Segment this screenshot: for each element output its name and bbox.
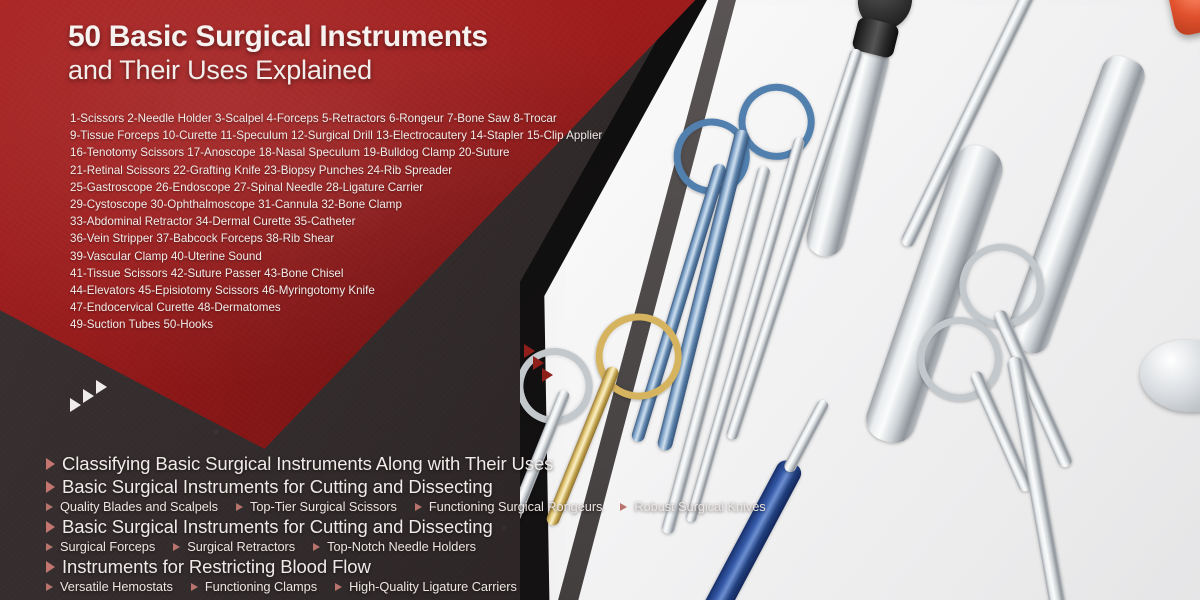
outline-item-functioning-clamps[interactable]: Functioning Clamps	[191, 579, 317, 594]
outline-item-top-tier-scissors[interactable]: Top-Tier Surgical Scissors	[236, 499, 397, 514]
outline-item-robust-knives[interactable]: Robust Surgical Knives	[620, 499, 765, 514]
chevron-triangle-icon	[83, 389, 94, 403]
outline-item-surgical-forceps[interactable]: Surgical Forceps	[46, 539, 155, 554]
caret-right-icon	[236, 503, 243, 511]
list-line: 47-Endocervical Curette 48-Dermatomes	[70, 299, 670, 316]
red-chevron-group	[524, 344, 580, 390]
outline-row: Basic Surgical Instruments for Cutting a…	[46, 476, 1166, 498]
list-line: 21-Retinal Scissors 22-Grafting Knife 23…	[70, 162, 670, 179]
caret-right-icon	[46, 458, 55, 470]
outline-row: Instruments for Restricting Blood Flow	[46, 556, 1166, 578]
title-line-2: and Their Uses Explained	[68, 55, 628, 85]
caret-right-icon	[335, 583, 342, 591]
outline-item-versatile-hemostats[interactable]: Versatile Hemostats	[46, 579, 173, 594]
chevron-triangle-icon	[70, 398, 81, 412]
chevron-triangle-icon	[96, 380, 107, 394]
instrument-number-list: 1-Scissors 2-Needle Holder 3-Scalpel 4-F…	[70, 110, 670, 334]
outline-row: Versatile Hemostats Functioning Clamps H…	[46, 579, 1166, 594]
outline-nav: Classifying Basic Surgical Instruments A…	[46, 453, 1166, 596]
outline-item-surgical-retractors[interactable]: Surgical Retractors	[173, 539, 295, 554]
caret-right-icon	[46, 481, 55, 493]
outline-item-functioning-rongeurs[interactable]: Functioning Surgical Rongeurs	[415, 499, 603, 514]
title-line-1: 50 Basic Surgical Instruments	[68, 22, 628, 53]
caret-right-icon	[415, 503, 422, 511]
outline-item-label: Versatile Hemostats	[60, 579, 173, 594]
outline-item-label: Functioning Surgical Rongeurs	[429, 499, 603, 514]
list-line: 36-Vein Stripper 37-Babcock Forceps 38-R…	[70, 230, 670, 247]
list-line: 39-Vascular Clamp 40-Uterine Sound	[70, 248, 670, 265]
chevron-triangle-icon	[542, 368, 553, 382]
outline-item-label: Top-Notch Needle Holders	[327, 539, 476, 554]
caret-right-icon	[46, 521, 55, 533]
caret-right-icon	[620, 503, 627, 511]
outline-item-restricting-blood-flow[interactable]: Instruments for Restricting Blood Flow	[46, 556, 371, 578]
outline-item-classifying[interactable]: Classifying Basic Surgical Instruments A…	[46, 453, 553, 475]
list-line: 1-Scissors 2-Needle Holder 3-Scalpel 4-F…	[70, 110, 670, 127]
outline-item-label: Robust Surgical Knives	[634, 499, 765, 514]
outline-item-label: Basic Surgical Instruments for Cutting a…	[62, 476, 493, 498]
list-line: 44-Elevators 45-Episiotomy Scissors 46-M…	[70, 282, 670, 299]
outline-item-cutting-dissecting-2[interactable]: Basic Surgical Instruments for Cutting a…	[46, 516, 493, 538]
list-line: 25-Gastroscope 26-Endoscope 27-Spinal Ne…	[70, 179, 670, 196]
outline-item-quality-blades[interactable]: Quality Blades and Scalpels	[46, 499, 218, 514]
caret-right-icon	[46, 561, 55, 573]
outline-item-label: Functioning Clamps	[205, 579, 317, 594]
outline-row: Basic Surgical Instruments for Cutting a…	[46, 516, 1166, 538]
list-line: 29-Cystoscope 30-Ophthalmoscope 31-Cannu…	[70, 196, 670, 213]
caret-right-icon	[46, 583, 53, 591]
caret-right-icon	[46, 503, 53, 511]
outline-item-ligature-carriers[interactable]: High-Quality Ligature Carriers	[335, 579, 517, 594]
outline-row: Surgical Forceps Surgical Retractors Top…	[46, 539, 1166, 554]
outline-row: Quality Blades and Scalpels Top-Tier Sur…	[46, 499, 1166, 514]
list-line: 33-Abdominal Retractor 34-Dermal Curette…	[70, 213, 670, 230]
outline-item-label: Basic Surgical Instruments for Cutting a…	[62, 516, 493, 538]
outline-item-label: Surgical Retractors	[187, 539, 295, 554]
list-line: 41-Tissue Scissors 42-Suture Passer 43-B…	[70, 265, 670, 282]
list-line: 49-Suction Tubes 50-Hooks	[70, 316, 670, 333]
caret-right-icon	[173, 543, 180, 551]
caret-right-icon	[313, 543, 320, 551]
outline-item-needle-holders[interactable]: Top-Notch Needle Holders	[313, 539, 476, 554]
poster-canvas: 50 Basic Surgical Instruments and Their …	[0, 0, 1200, 600]
outline-item-label: High-Quality Ligature Carriers	[349, 579, 517, 594]
list-line: 9-Tissue Forceps 10-Curette 11-Speculum …	[70, 127, 670, 144]
outline-item-label: Top-Tier Surgical Scissors	[250, 499, 397, 514]
outline-item-label: Quality Blades and Scalpels	[60, 499, 218, 514]
outline-item-label: Surgical Forceps	[60, 539, 155, 554]
outline-row: Classifying Basic Surgical Instruments A…	[46, 453, 1166, 475]
page-title: 50 Basic Surgical Instruments and Their …	[68, 22, 628, 85]
outline-item-label: Classifying Basic Surgical Instruments A…	[62, 453, 553, 475]
white-chevron-group	[70, 378, 126, 418]
outline-item-cutting-dissecting-1[interactable]: Basic Surgical Instruments for Cutting a…	[46, 476, 493, 498]
caret-right-icon	[46, 543, 53, 551]
caret-right-icon	[191, 583, 198, 591]
outline-item-label: Instruments for Restricting Blood Flow	[62, 556, 371, 578]
list-line: 16-Tenotomy Scissors 17-Anoscope 18-Nasa…	[70, 144, 670, 161]
